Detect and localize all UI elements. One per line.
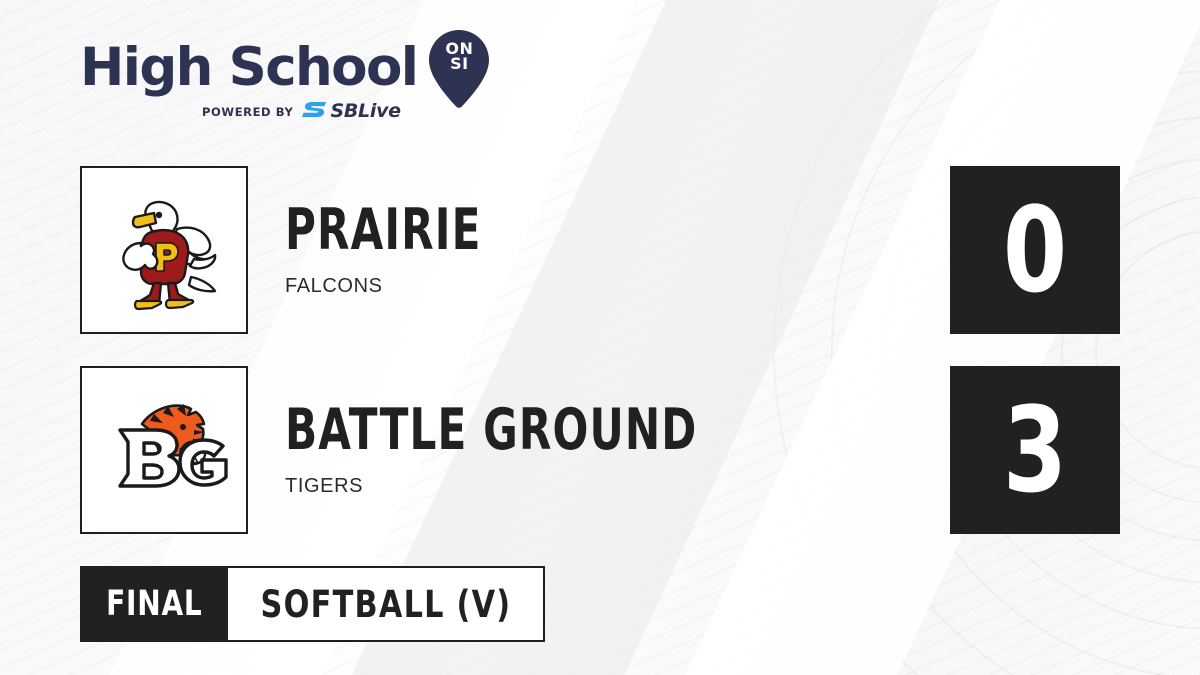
team-name: PRAIRIE [285,202,777,259]
on-si-pin-icon: ON SI [429,30,489,108]
scoreboard-graphic: High School ON SI POWERED BY SBLive [0,0,1200,675]
team-logo-frame [80,166,248,334]
brand-header: High School ON SI POWERED BY SBLive [80,36,510,132]
team-info: PRAIRIE FALCONS [285,202,950,298]
team-row: BATTLE GROUND TIGERS 3 [80,366,1120,534]
sport-label: SOFTBALL (V) [260,583,511,626]
brand-wordmark: High School [80,41,417,94]
prairie-falcons-eagle-logo [99,185,229,315]
battle-ground-tigers-bg-logo [98,390,230,510]
on-si-pin-label: ON SI [429,41,489,71]
sblive-logo: SBLive [302,101,400,122]
game-state-label: FINAL [106,584,203,624]
team-row: PRAIRIE FALCONS 0 [80,166,1120,334]
team-score-box: 0 [950,166,1120,334]
game-state-badge: FINAL [80,566,228,642]
sblive-wordmark: SBLive [330,102,400,121]
team-logo-frame [80,366,248,534]
sblive-s-mark [302,101,328,122]
team-score: 0 [1003,191,1067,309]
brand-lockup: High School ON SI [80,36,510,98]
team-score-box: 3 [950,366,1120,534]
powered-by-label: POWERED BY [202,105,293,119]
sport-badge: SOFTBALL (V) [228,566,545,642]
team-name: BATTLE GROUND [285,402,777,459]
team-mascot: FALCONS [285,275,950,298]
status-bar: FINAL SOFTBALL (V) [80,566,545,642]
team-info: BATTLE GROUND TIGERS [285,402,950,498]
team-score: 3 [1003,391,1067,509]
team-mascot: TIGERS [285,475,950,498]
pin-line-si: SI [429,56,489,71]
